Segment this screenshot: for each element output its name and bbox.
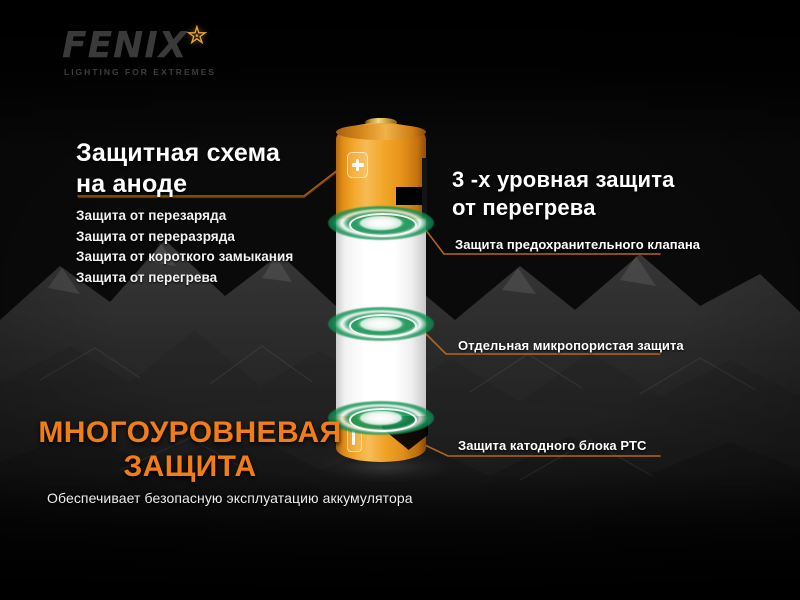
list-item: Защита от короткого замыкания xyxy=(76,247,376,268)
list-item: Защита от переразряда xyxy=(76,227,376,248)
fenix-logo: FENIX ✮ LIGHTING FOR EXTREMES xyxy=(62,28,262,80)
callout-safety-valve: Защита предохранительного клапана xyxy=(455,237,700,252)
footer-headline-line-1: МНОГОУРОВНЕВАЯ xyxy=(0,416,380,450)
star-icon: ✮ xyxy=(186,22,208,48)
brand-tagline: LIGHTING FOR EXTREMES xyxy=(62,67,262,77)
right-heading-line-2: от перегрева xyxy=(452,194,762,222)
right-heading-line-1: 3 -х уровная защита xyxy=(452,166,762,194)
footer-headline: МНОГОУРОВНЕВАЯ ЗАЩИТА xyxy=(0,416,380,484)
left-heading-line-1: Защитная схема xyxy=(76,138,376,169)
left-heading-line-2: на аноде xyxy=(76,169,376,200)
list-item: Защита от перезаряда xyxy=(76,206,376,227)
list-item: Защита от перегрева xyxy=(76,268,376,289)
left-feature-list: Защита от перезаряда Защита от переразря… xyxy=(76,206,376,288)
infographic-canvas: FENIX ✮ LIGHTING FOR EXTREMES xyxy=(0,0,800,600)
callout-ptc-cathode: Защита катодного блока PTC xyxy=(458,438,646,453)
footer-headline-line-2: ЗАЩИТА xyxy=(0,450,380,484)
brand-name: FENIX xyxy=(62,28,262,64)
battery-right-edge-shadow xyxy=(422,158,427,218)
battery-top-notch xyxy=(396,187,424,205)
right-heading: 3 -х уровная защита от перегрева xyxy=(452,166,762,222)
callout-microporous: Отдельная микропористая защита xyxy=(458,338,684,353)
footer-subtitle: Обеспечивает безопасную эксплуатацию акк… xyxy=(47,490,413,506)
left-heading: Защитная схема на аноде xyxy=(76,138,376,200)
